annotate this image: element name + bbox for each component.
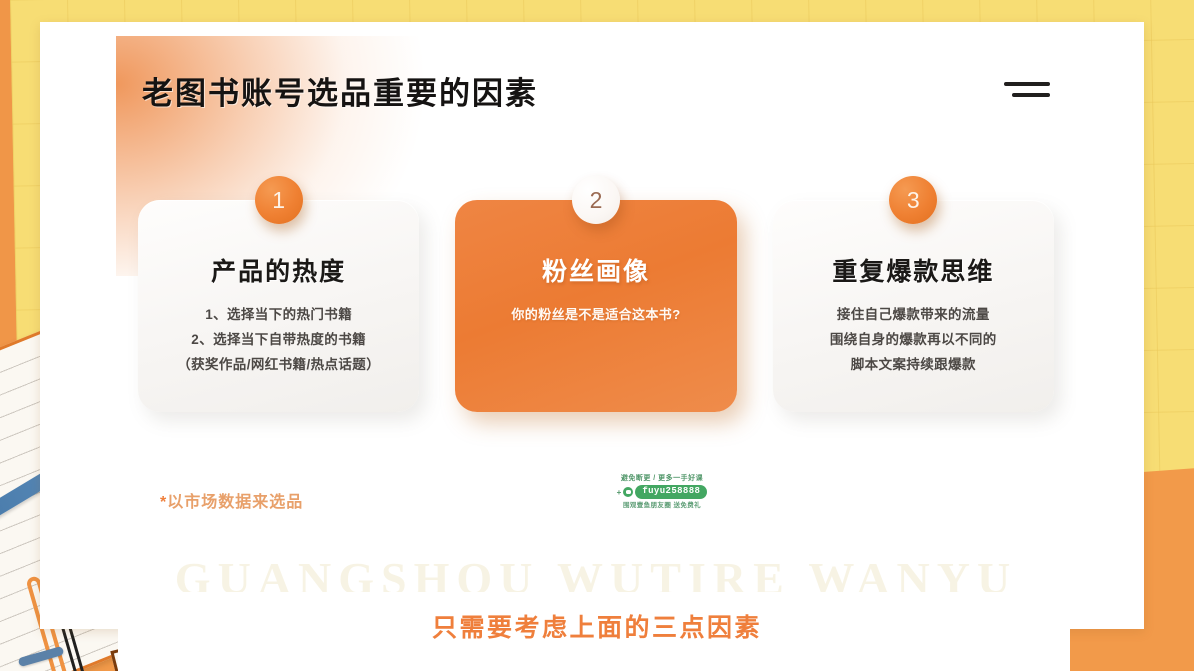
card-line: 围绕自身的爆款再以不同的 <box>789 327 1038 352</box>
footnote-text: 以市场数据来选品 <box>167 494 303 511</box>
factor-card-1[interactable]: 1 产品的热度 1、选择当下的热门书籍 2、选择当下自带热度的书籍 （获奖作品/… <box>138 200 419 412</box>
slide-stage: 老图书账号选品重要的因素 1 产品的热度 1、选择当下的热门书籍 2、选择当下自… <box>0 0 1194 671</box>
wechat-id-pill: fuyu258888 <box>635 485 707 499</box>
card-line: 你的粉丝是不是适合这本书? <box>471 302 720 327</box>
hamburger-bar-bottom <box>1012 93 1050 97</box>
wechat-promo-watermark: 避免断更 / 更多一手好课 + fuyu258888 围观壹鱼朋友圈 送免费礼 <box>602 474 722 510</box>
slide-header: 老图书账号选品重要的因素 <box>142 60 1050 120</box>
bottom-caption: 只需要考虑上面的三点因素 <box>0 608 1194 644</box>
card-title: 重复爆款思维 <box>789 252 1038 288</box>
card-line: 接住自己爆款带来的流量 <box>789 302 1038 327</box>
card-body: 接住自己爆款带来的流量 围绕自身的爆款再以不同的 脚本文案持续跟爆款 <box>789 302 1038 377</box>
card-number-badge: 1 <box>255 176 303 224</box>
wechat-id-row: + fuyu258888 <box>602 485 722 499</box>
card-line: （获奖作品/网红书籍/热点话题） <box>154 352 403 377</box>
card-line: 脚本文案持续跟爆款 <box>789 352 1038 377</box>
hamburger-menu-icon[interactable] <box>1004 79 1050 101</box>
hamburger-bar-top <box>1004 82 1050 86</box>
factor-card-3[interactable]: 3 重复爆款思维 接住自己爆款带来的流量 围绕自身的爆款再以不同的 脚本文案持续… <box>773 200 1054 412</box>
card-title: 粉丝画像 <box>471 252 720 288</box>
factor-card-2[interactable]: 2 粉丝画像 你的粉丝是不是适合这本书? <box>455 200 736 412</box>
card-body: 1、选择当下的热门书籍 2、选择当下自带热度的书籍 （获奖作品/网红书籍/热点话… <box>154 302 403 377</box>
page-title: 老图书账号选品重要的因素 <box>142 68 538 113</box>
wechat-icon <box>623 487 633 497</box>
card-line: 2、选择当下自带热度的书籍 <box>154 327 403 352</box>
background-pinyin-watermark: GUANGSHOU WUTIRE WANYU <box>116 552 1076 592</box>
wechat-promo-top-line: 避免断更 / 更多一手好课 <box>602 474 722 484</box>
card-number-badge: 3 <box>889 176 937 224</box>
card-line: 1、选择当下的热门书籍 <box>154 302 403 327</box>
footnote: *以市场数据来选品 <box>160 488 303 512</box>
card-title: 产品的热度 <box>154 252 403 288</box>
card-number-badge: 2 <box>572 176 620 224</box>
wechat-promo-bottom-line: 围观壹鱼朋友圈 送免费礼 <box>602 501 722 510</box>
slide-canvas: 老图书账号选品重要的因素 1 产品的热度 1、选择当下的热门书籍 2、选择当下自… <box>116 36 1076 592</box>
factor-card-row: 1 产品的热度 1、选择当下的热门书籍 2、选择当下自带热度的书籍 （获奖作品/… <box>138 200 1054 412</box>
plus-sign: + <box>617 488 622 497</box>
card-body: 你的粉丝是不是适合这本书? <box>471 302 720 327</box>
